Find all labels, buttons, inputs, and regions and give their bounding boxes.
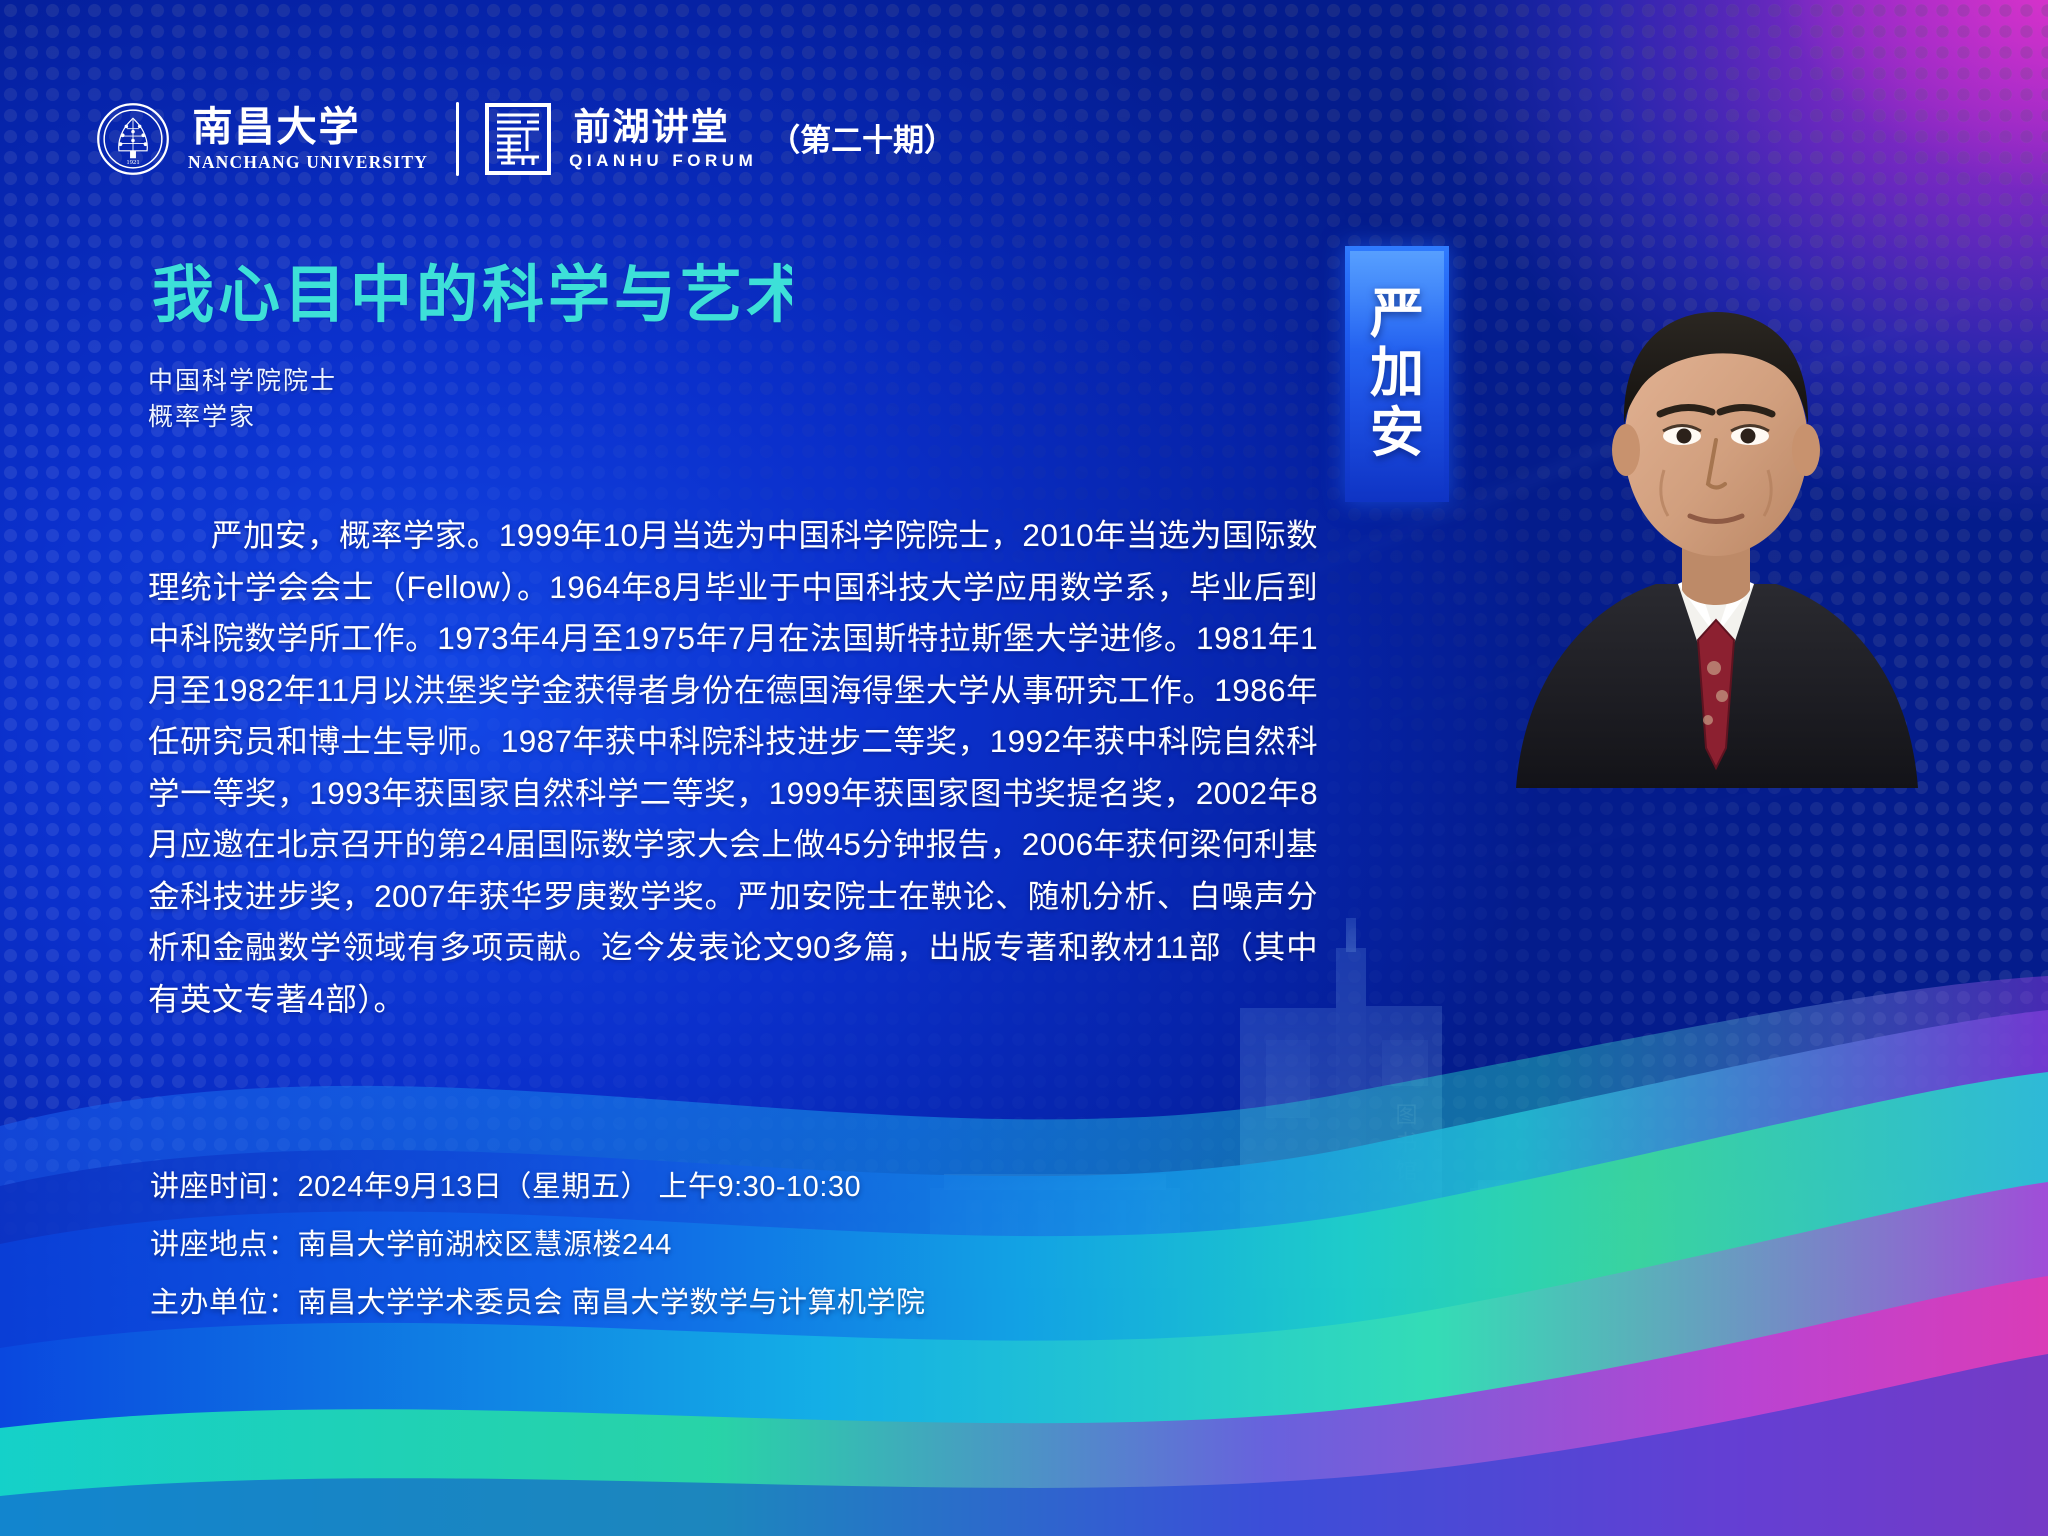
university-name-en: NANCHANG UNIVERSITY <box>188 152 428 173</box>
forum-name-en: QIANHU FORUM <box>569 151 759 171</box>
qianhu-forum-seal-icon <box>485 103 551 175</box>
speaker-name-char-2: 加 <box>1370 346 1424 401</box>
lecture-info-block: 讲座时间：2024年9月13日（星期五） 上午9:30-10:30 讲座地点：南… <box>150 1158 926 1332</box>
lecture-host: 主办单位：南昌大学学术委员会 南昌大学数学与计算机学院 <box>150 1274 926 1332</box>
forum-wordmark: 前湖讲堂 QIANHU FORUM <box>569 107 759 171</box>
speaker-name-badge: 严 加 安 <box>1345 246 1449 502</box>
seal-year: 1921 <box>126 159 139 166</box>
speaker-bio-paragraph: 严加安，概率学家。1999年10月当选为中国科学院院士，2010年当选为国际数理… <box>148 510 1318 1025</box>
header-divider <box>456 102 459 176</box>
speaker-name-char-1: 严 <box>1370 287 1424 342</box>
lecture-time: 讲座时间：2024年9月13日（星期五） 上午9:30-10:30 <box>150 1158 926 1216</box>
speaker-name-vertical: 严 加 安 <box>1345 246 1449 502</box>
svg-text:南昌大学: 南昌大学 <box>192 105 360 149</box>
svg-text:NANCHANG UNIVERSITY: NANCHANG UNIVERSITY <box>96 102 99 104</box>
lecture-place: 讲座地点：南昌大学前湖校区慧源楼244 <box>150 1216 926 1274</box>
lecture-title-wrap: 我心目中的科学与艺术 <box>152 254 792 334</box>
university-name-cn: 南昌大学 <box>188 105 388 149</box>
forum-issue-number: （第二十期） <box>769 115 955 164</box>
poster-root: 图 书 馆 游 泳 馆 <box>0 0 2048 1536</box>
speaker-name-char-3: 安 <box>1370 406 1424 461</box>
poster-header: 1921 NANCHANG UNIVERSITY 南昌大学 NANCHANG U… <box>96 96 955 182</box>
svg-text:前湖讲堂: 前湖讲堂 <box>574 107 730 147</box>
lecture-title-svg: 我心目中的科学与艺术 <box>152 254 792 334</box>
forum-name-cn: 前湖讲堂 <box>569 107 759 147</box>
speaker-credentials: 中国科学院院士概率学家 <box>148 364 337 435</box>
lecture-title-text: 我心目中的科学与艺术 <box>152 258 792 331</box>
credential-line-2: 概率学家 <box>148 403 256 431</box>
speaker-portrait <box>1396 228 2036 788</box>
credential-line-1: 中国科学院院士 <box>148 367 337 395</box>
nanchang-university-seal-icon: 1921 NANCHANG UNIVERSITY <box>96 102 170 176</box>
university-wordmark: 南昌大学 NANCHANG UNIVERSITY <box>188 102 428 176</box>
